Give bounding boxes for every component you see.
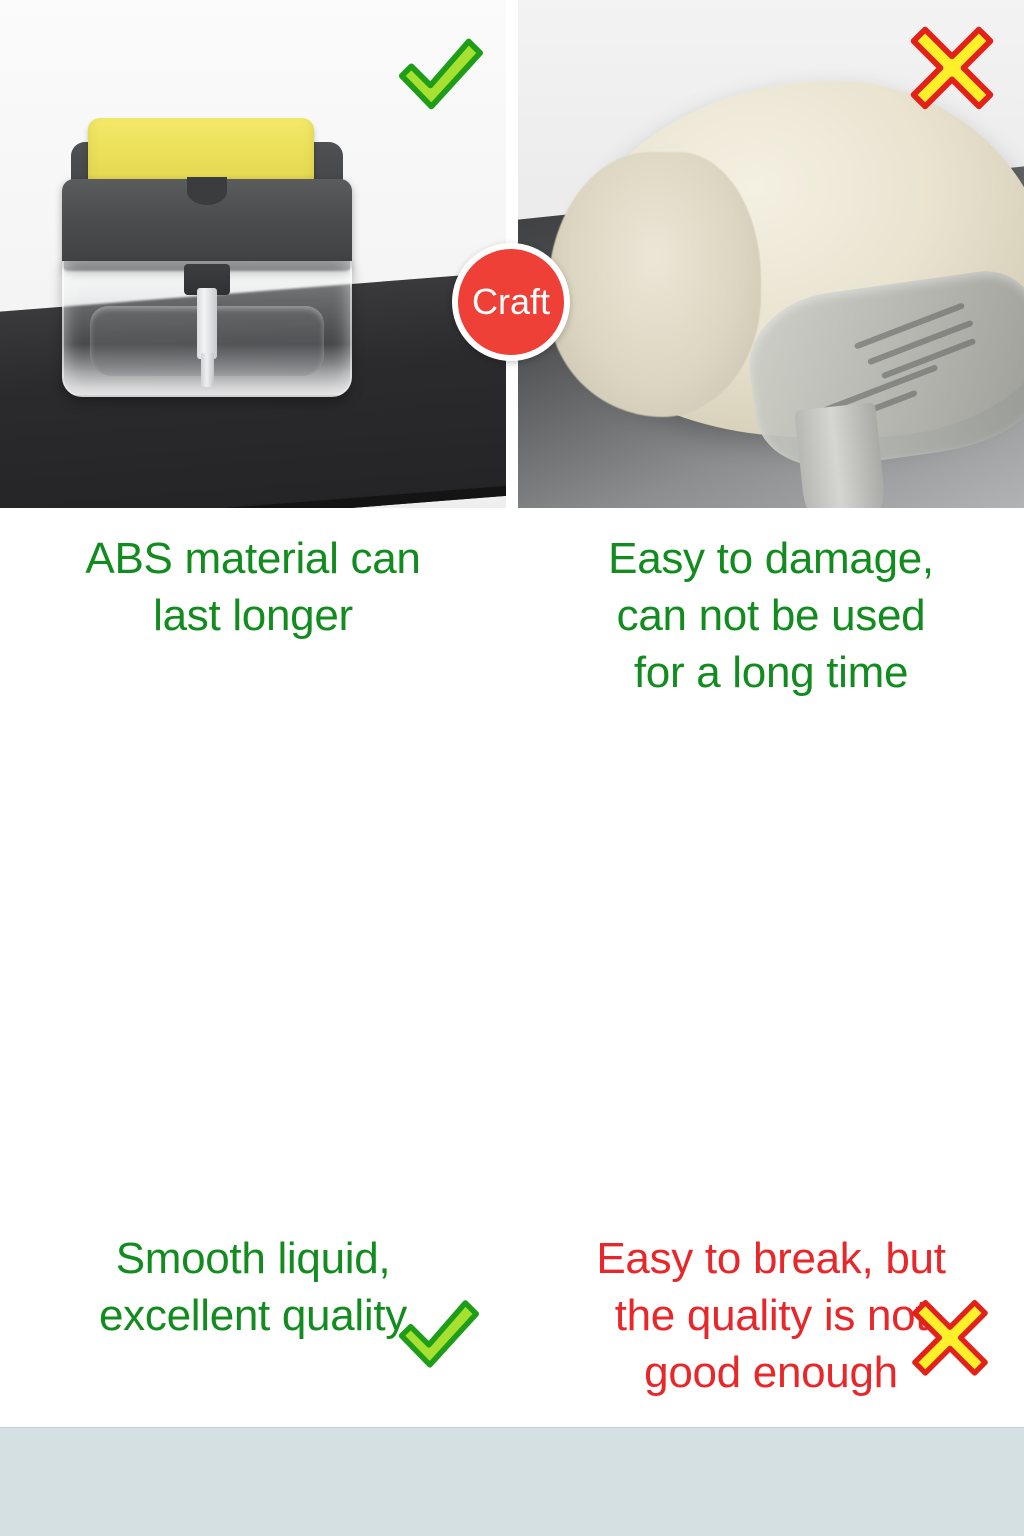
caption-line: Smooth liquid, <box>0 1230 506 1287</box>
caption-line: for a long time <box>518 644 1024 701</box>
soap-dispenser-product <box>62 118 352 458</box>
bottom-band <box>0 1427 1024 1536</box>
row-craft-captions: ABS material can last longer Easy to dam… <box>0 508 1024 758</box>
yellow-cross-mark <box>906 1292 994 1380</box>
badge-craft-label: Craft <box>472 281 550 323</box>
badge-craft: Craft <box>452 243 570 361</box>
yellow-cross-mark <box>904 18 1000 114</box>
photo-good-dispenser <box>0 0 506 508</box>
caption-bad-craft: Easy to damage, can not be used for a lo… <box>518 508 1024 758</box>
caption-line: ABS material can <box>0 530 506 587</box>
infographic-page: Craft ABS material can last longer Easy … <box>0 0 1024 1536</box>
pump-stem <box>197 288 217 359</box>
photo-bad-damaged-plastic <box>518 0 1024 508</box>
caption-line: Easy to break, but <box>518 1230 1024 1287</box>
plastic-stem <box>795 403 889 508</box>
dispenser-grey-collar <box>62 179 352 271</box>
row-quality-captions: Smooth liquid, excellent quality Easy to… <box>0 1208 1024 1427</box>
pump-tip <box>201 353 214 387</box>
green-check-mark <box>392 30 488 116</box>
row-craft-photos: Craft <box>0 0 1024 508</box>
caption-line: last longer <box>0 587 506 644</box>
caption-good-craft: ABS material can last longer <box>0 508 506 758</box>
green-check-mark <box>392 1292 484 1374</box>
deformed-plastic-lower-lobe <box>548 152 761 416</box>
caption-line: Easy to damage, <box>518 530 1024 587</box>
caption-line: can not be used <box>518 587 1024 644</box>
